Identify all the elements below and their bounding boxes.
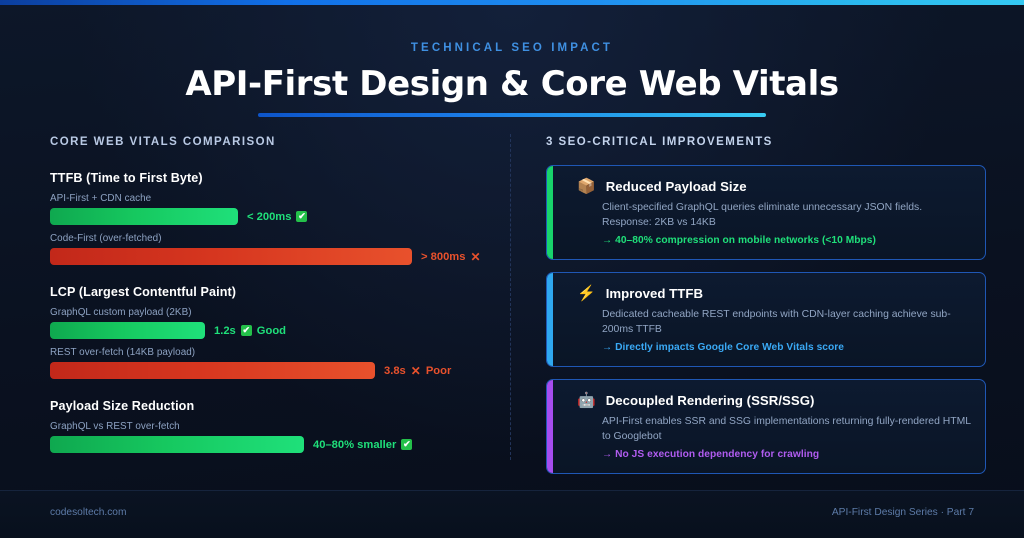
title-underline — [258, 113, 766, 117]
robot-icon: 🤖 — [577, 393, 596, 408]
footer-site[interactable]: codesoltech.com — [50, 507, 126, 518]
card-title: Improved TTFB — [606, 286, 703, 301]
left-column: CORE WEB VITALS COMPARISON TTFB (Time to… — [50, 136, 500, 453]
bar-row: 1.2s✔Good — [50, 322, 500, 339]
metric-group: LCP (Largest Contentful Paint)GraphQL cu… — [50, 285, 500, 379]
card-title: Decoupled Rendering (SSR/SSG) — [606, 393, 815, 408]
bar-rating: Poor — [426, 365, 451, 377]
card-header: ⚡Improved TTFB — [577, 286, 971, 301]
metric-title: Payload Size Reduction — [50, 399, 500, 413]
bar-caption: REST over-fetch (14KB payload) — [50, 347, 500, 358]
metric-bar-line: API-First + CDN cache< 200ms✔ — [50, 193, 500, 225]
bar-value-number: 40–80% smaller — [313, 439, 396, 451]
slide-header: TECHNICAL SEO IMPACT API-First Design & … — [0, 42, 1024, 117]
improvement-cards-list: 📦Reduced Payload SizeClient-specified Gr… — [546, 165, 986, 474]
card-note: → No JS execution dependency for crawlin… — [602, 449, 971, 460]
card-note: → 40–80% compression on mobile networks … — [602, 235, 971, 246]
progress-bar — [50, 436, 304, 453]
card-accent-bar — [547, 380, 553, 473]
card-note: → Directly impacts Google Core Web Vital… — [602, 342, 971, 353]
left-section-label: CORE WEB VITALS COMPARISON — [50, 136, 500, 148]
bar-value: 40–80% smaller✔ — [313, 439, 412, 451]
improvement-card[interactable]: ⚡Improved TTFBDedicated cacheable REST e… — [546, 272, 986, 367]
bar-row: < 200ms✔ — [50, 208, 500, 225]
card-header: 🤖Decoupled Rendering (SSR/SSG) — [577, 393, 971, 408]
bar-caption: API-First + CDN cache — [50, 193, 500, 204]
card-body-text: Client-specified GraphQL queries elimina… — [602, 200, 971, 230]
metric-title: LCP (Largest Contentful Paint) — [50, 285, 500, 299]
card-title: Reduced Payload Size — [606, 179, 747, 194]
right-column: 3 SEO-CRITICAL IMPROVEMENTS 📦Reduced Pay… — [546, 136, 986, 474]
check-icon: ✔ — [241, 325, 252, 336]
progress-bar — [50, 208, 238, 225]
metric-group: Payload Size ReductionGraphQL vs REST ov… — [50, 399, 500, 453]
metrics-list: TTFB (Time to First Byte)API-First + CDN… — [50, 171, 500, 453]
bar-value-number: < 200ms — [247, 211, 291, 223]
bar-value: > 800ms✕ — [421, 250, 481, 264]
metric-bar-line: REST over-fetch (14KB payload)3.8s✕Poor — [50, 347, 500, 379]
right-section-label: 3 SEO-CRITICAL IMPROVEMENTS — [546, 136, 986, 148]
bar-row: 3.8s✕Poor — [50, 362, 500, 379]
metric-title: TTFB (Time to First Byte) — [50, 171, 500, 185]
bar-value: < 200ms✔ — [247, 211, 307, 223]
column-divider — [510, 134, 511, 460]
page-title: API-First Design & Core Web Vitals — [0, 64, 1024, 104]
bar-value: 3.8s✕Poor — [384, 364, 451, 378]
slide-footer: codesoltech.com API-First Design Series … — [0, 490, 1024, 538]
slide-canvas: TECHNICAL SEO IMPACT API-First Design & … — [0, 0, 1024, 538]
bar-value-number: 3.8s — [384, 365, 406, 377]
bar-value-number: > 800ms — [421, 251, 465, 263]
bar-row: > 800ms✕ — [50, 248, 500, 265]
bar-caption: Code-First (over-fetched) — [50, 233, 500, 244]
top-accent-bar — [0, 0, 1024, 5]
metric-group: TTFB (Time to First Byte)API-First + CDN… — [50, 171, 500, 265]
cross-icon: ✕ — [411, 364, 421, 378]
progress-bar — [50, 322, 205, 339]
bar-caption: GraphQL vs REST over-fetch — [50, 421, 500, 432]
cross-icon: ✕ — [470, 250, 480, 264]
improvement-card[interactable]: 🤖Decoupled Rendering (SSR/SSG)API-First … — [546, 379, 986, 474]
lightning-icon: ⚡ — [577, 286, 596, 301]
progress-bar — [50, 248, 412, 265]
card-body-text: API-First enables SSR and SSG implementa… — [602, 414, 971, 444]
check-icon: ✔ — [401, 439, 412, 450]
bar-caption: GraphQL custom payload (2KB) — [50, 307, 500, 318]
card-body-text: Dedicated cacheable REST endpoints with … — [602, 307, 971, 337]
metric-bar-line: GraphQL vs REST over-fetch40–80% smaller… — [50, 421, 500, 453]
bar-value-number: 1.2s — [214, 325, 236, 337]
metric-bar-line: Code-First (over-fetched)> 800ms✕ — [50, 233, 500, 265]
improvement-card[interactable]: 📦Reduced Payload SizeClient-specified Gr… — [546, 165, 986, 260]
bar-rating: Good — [257, 325, 286, 337]
check-icon: ✔ — [296, 211, 307, 222]
metric-bar-line: GraphQL custom payload (2KB)1.2s✔Good — [50, 307, 500, 339]
progress-bar — [50, 362, 375, 379]
card-accent-bar — [547, 273, 553, 366]
bar-row: 40–80% smaller✔ — [50, 436, 500, 453]
package-icon: 📦 — [577, 179, 596, 194]
card-header: 📦Reduced Payload Size — [577, 179, 971, 194]
bar-value: 1.2s✔Good — [214, 325, 286, 337]
card-accent-bar — [547, 166, 553, 259]
footer-series: API-First Design Series · Part 7 — [832, 507, 974, 518]
eyebrow-label: TECHNICAL SEO IMPACT — [0, 42, 1024, 54]
